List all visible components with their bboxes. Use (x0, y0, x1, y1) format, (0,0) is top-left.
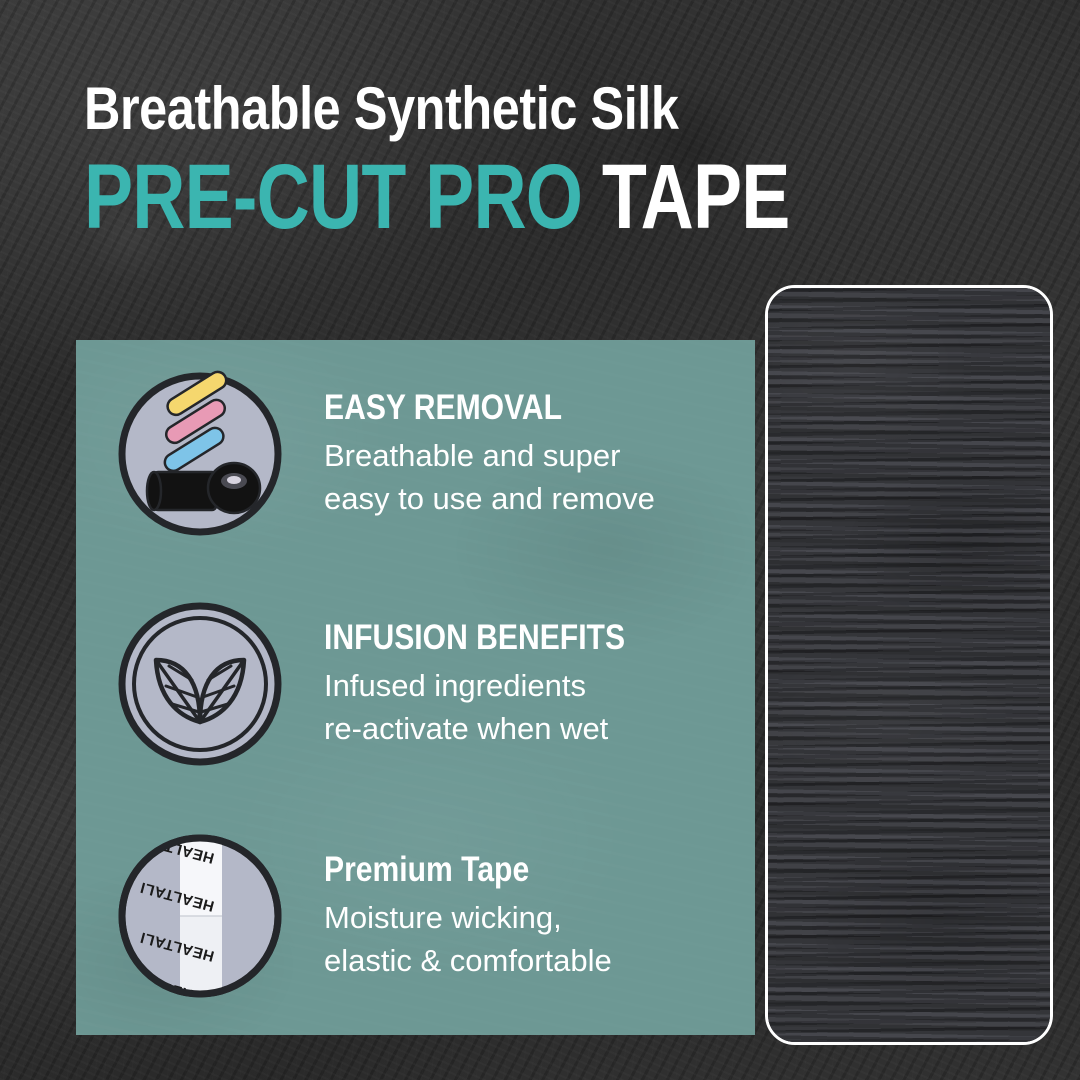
headline-accent-text: PRE-CUT PRO (84, 146, 582, 248)
headline-line-1: Breathable Synthetic Silk (84, 78, 857, 139)
feature-desc-line-2: elastic & comfortable (324, 940, 612, 983)
feature-title: INFUSION BENEFITS (324, 620, 625, 657)
feature-description: Infused ingredients re-activate when wet (324, 665, 674, 751)
product-tape-strip-image (765, 285, 1053, 1045)
feature-description: Moisture wicking, elastic & comfortable (324, 897, 612, 983)
feature-text-easy-removal: EASY REMOVAL Breathable and super easy t… (286, 368, 655, 520)
headline-tape-text: TAPE (602, 146, 790, 248)
branded-tape-strip-icon: HEALTALI HEALTALI HEALTALI HEALTALI (114, 830, 286, 1002)
feature-title: Premium Tape (324, 852, 571, 889)
leaves-in-circle-icon (114, 598, 286, 770)
feature-desc-line-1: Moisture wicking, (324, 897, 612, 940)
headline-line-2: PRE-CUT PRO TAPE (84, 151, 820, 243)
feature-row-infusion-benefits: INFUSION BENEFITS Infused ingredients re… (114, 598, 734, 770)
feature-text-premium-tape: Premium Tape Moisture wicking, elastic &… (286, 830, 612, 982)
feature-desc-line-1: Infused ingredients (324, 665, 674, 708)
infographic-canvas: Breathable Synthetic Silk PRE-CUT PRO TA… (0, 0, 1080, 1080)
feature-row-easy-removal: EASY REMOVAL Breathable and super easy t… (114, 368, 734, 540)
headline-white-text (582, 146, 602, 248)
feature-desc-line-1: Breathable and super (324, 435, 655, 478)
feature-title: EASY REMOVAL (324, 390, 609, 427)
feature-description: Breathable and super easy to use and rem… (324, 435, 655, 521)
feature-desc-line-2: easy to use and remove (324, 478, 655, 521)
product-highlight-layer (768, 288, 1050, 1042)
headline-block: Breathable Synthetic Silk PRE-CUT PRO TA… (84, 78, 1004, 243)
feature-desc-line-2: re-activate when wet (324, 708, 674, 751)
tape-strips-and-rolls-icon (114, 368, 286, 540)
feature-row-premium-tape: HEALTALI HEALTALI HEALTALI HEALTALI Prem… (114, 830, 734, 1002)
feature-text-infusion-benefits: INFUSION BENEFITS Infused ingredients re… (286, 598, 674, 750)
features-panel: EASY REMOVAL Breathable and super easy t… (76, 340, 755, 1035)
